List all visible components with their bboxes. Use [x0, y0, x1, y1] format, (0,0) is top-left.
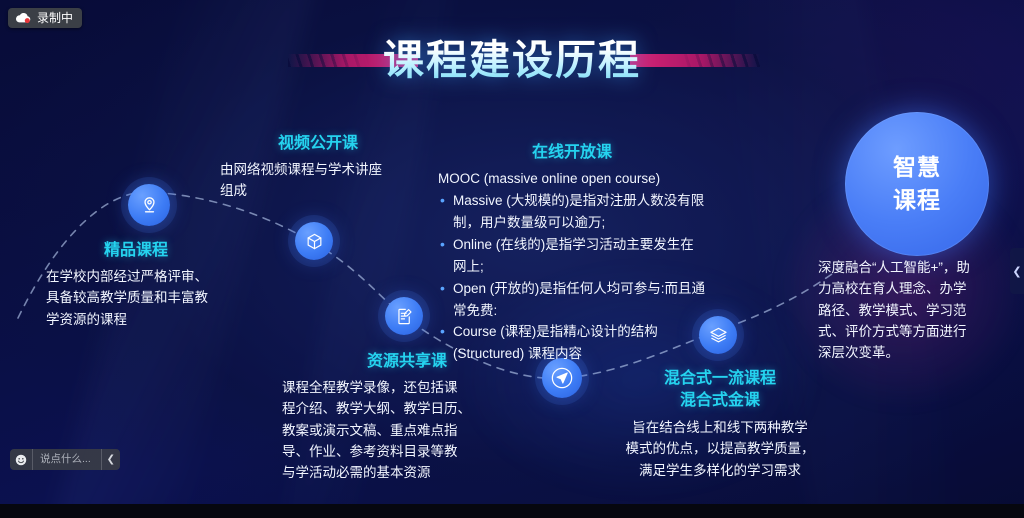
section-body: 由网络视频课程与学术讲座 组成 — [220, 159, 416, 202]
list-item: Online (在线的)是指学习活动主要发生在网上; — [438, 234, 706, 278]
section-subheading: 混合式金课 — [606, 391, 834, 411]
section-body: 深度融合“人工智能+”，助 力高校在育人理念、办学 路径、教学模式、学习范 式、… — [818, 257, 1004, 364]
section-body: 旨在结合线上和线下两种教学 模式的优点，以提高教学质量， 满足学生多样化的学习需… — [606, 417, 834, 481]
location-pin-icon — [139, 195, 160, 216]
chevron-left-icon[interactable]: ❮ — [101, 449, 120, 470]
layers-icon — [709, 326, 728, 345]
slide-title-block: 课程建设历程 — [0, 28, 1024, 84]
node-document-edit[interactable] — [385, 297, 423, 335]
list-item: Open (开放的)是指任何人均可参与:而且通常免费: — [438, 278, 706, 322]
section-heading: 在线开放课 — [438, 143, 706, 163]
section-heading: 混合式一流课程 — [606, 369, 834, 389]
section-lead-text: MOOC (massive online open course) — [438, 168, 706, 189]
chat-input-bar[interactable]: 说点什么... ❮ — [10, 449, 120, 470]
node-cube[interactable] — [295, 222, 333, 260]
section-heading: 视频公开课 — [220, 134, 416, 154]
section-online-open-course: 在线开放课 MOOC (massive online open course) … — [438, 143, 706, 365]
hero-circle-smart-course[interactable]: 智慧 课程 — [845, 112, 989, 256]
chevron-left-icon: ❮ — [1012, 265, 1021, 278]
section-body: 课程全程教学录像，还包括课 程介绍、教学大纲、教学日历、 教案或演示文稿、重点难… — [282, 377, 532, 484]
side-panel-collapse-button[interactable]: ❮ — [1010, 248, 1024, 294]
hero-heading-line2: 课程 — [893, 184, 941, 217]
section-blended-course: 混合式一流课程 混合式金课 旨在结合线上和线下两种教学 模式的优点，以提高教学质… — [606, 369, 834, 481]
section-excellent-course: 精品课程 在学校内部经过严格评审、 具备较高教学质量和丰富教 学资源的课程 — [46, 241, 276, 330]
player-letterbox — [0, 504, 1024, 518]
title-streak-right — [630, 54, 760, 67]
presentation-stage: 录制中 课程建设历程 — [0, 0, 1024, 518]
section-smart-course: 深度融合“人工智能+”，助 力高校在育人理念、办学 路径、教学模式、学习范 式、… — [818, 257, 1004, 364]
hero-heading-line1: 智慧 — [893, 151, 941, 184]
recording-status-label: 录制中 — [37, 12, 73, 24]
section-video-open-course: 视频公开课 由网络视频课程与学术讲座 组成 — [220, 134, 416, 202]
list-item: Massive (大规模的)是指对注册人数没有限制，用户数量级可以逾万; — [438, 190, 706, 234]
cloud-record-icon — [15, 12, 32, 24]
cube-icon — [305, 232, 324, 251]
page-title: 课程建设历程 — [383, 26, 641, 86]
section-resource-sharing-course: 资源共享课 课程全程教学录像，还包括课 程介绍、教学大纲、教学日历、 教案或演示… — [282, 352, 532, 484]
recording-status-badge: 录制中 — [8, 8, 82, 28]
paper-plane-icon — [547, 363, 577, 393]
smiley-icon[interactable] — [10, 449, 32, 470]
section-heading: 资源共享课 — [282, 352, 532, 372]
document-edit-icon — [395, 307, 414, 326]
mooc-bullet-list: Massive (大规模的)是指对注册人数没有限制，用户数量级可以逾万; Onl… — [438, 190, 706, 365]
section-heading: 精品课程 — [104, 241, 276, 261]
node-location-pin[interactable] — [128, 184, 170, 226]
chat-input-placeholder[interactable]: 说点什么... — [32, 449, 101, 470]
section-body: 在学校内部经过严格评审、 具备较高教学质量和丰富教 学资源的课程 — [46, 266, 276, 330]
